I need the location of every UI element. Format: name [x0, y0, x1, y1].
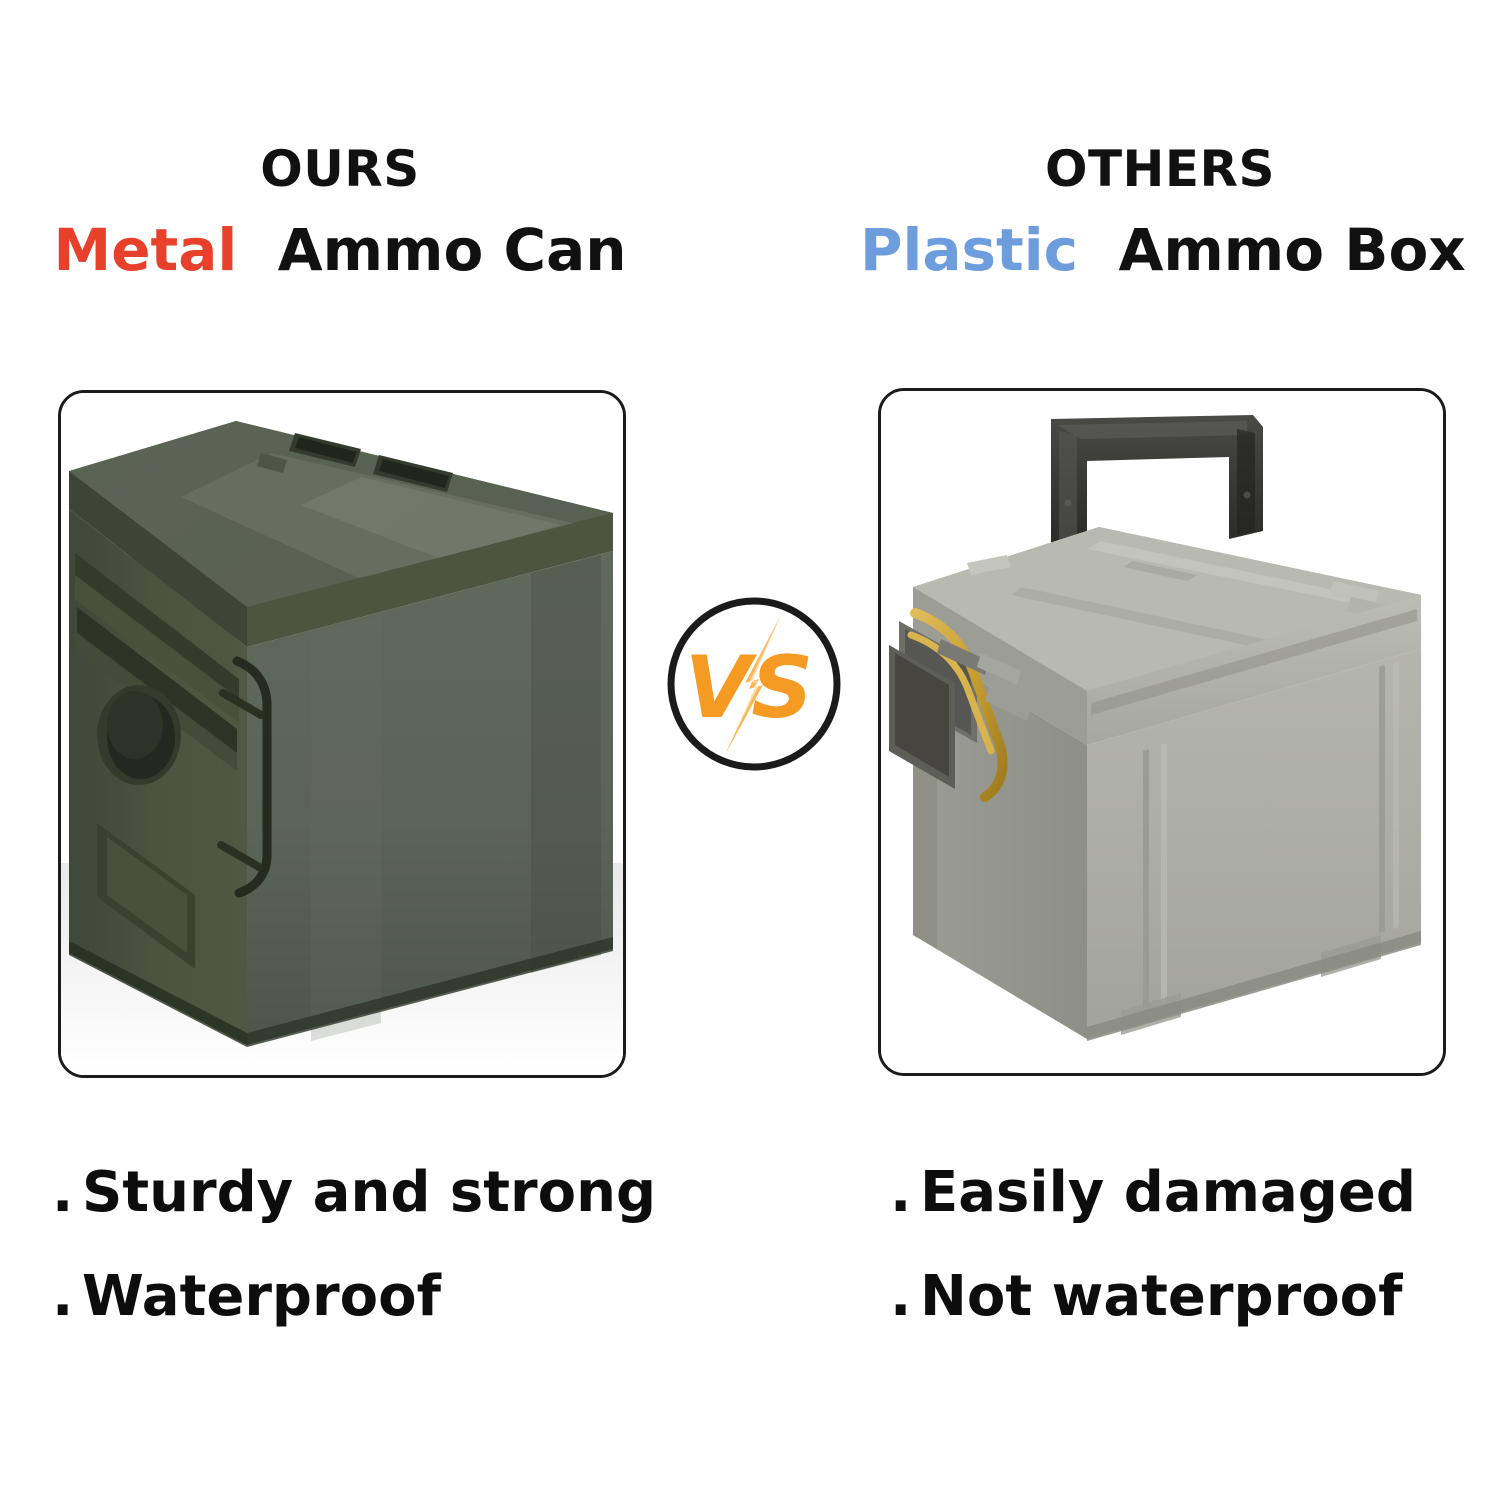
- versus-label: VS: [685, 638, 814, 738]
- feature-label: Easily damaged: [920, 1160, 1416, 1226]
- others-product-name-label: Ammo Box: [1118, 216, 1465, 284]
- plastic-ammo-box-illustration: [881, 391, 1443, 1073]
- ours-product-image-card: [58, 390, 626, 1078]
- list-item: . Waterproof: [52, 1264, 712, 1330]
- bullet-marker: .: [52, 1160, 82, 1226]
- feature-label: Not waterproof: [920, 1264, 1403, 1330]
- bullet-marker: .: [52, 1264, 82, 1330]
- feature-label: Waterproof: [82, 1264, 441, 1330]
- ours-column-header: OURS Metal Ammo Can: [40, 140, 640, 284]
- others-feature-list: . Easily damaged . Not waterproof: [890, 1160, 1490, 1368]
- list-item: . Not waterproof: [890, 1264, 1490, 1330]
- list-item: . Sturdy and strong: [52, 1160, 712, 1226]
- ours-product-name-label: Ammo Can: [278, 216, 627, 284]
- feature-label: Sturdy and strong: [82, 1160, 656, 1226]
- comparison-infographic: OURS Metal Ammo Can OTHERS Plastic Ammo …: [0, 0, 1500, 1500]
- others-column-header: OTHERS Plastic Ammo Box: [860, 140, 1460, 284]
- ours-kicker-label: OURS: [40, 140, 640, 198]
- bullet-marker: .: [890, 1160, 920, 1226]
- metal-ammo-can-illustration: [61, 393, 623, 1075]
- bullet-marker: .: [890, 1264, 920, 1330]
- ours-feature-list: . Sturdy and strong . Waterproof: [52, 1160, 712, 1368]
- others-kicker-label: OTHERS: [860, 140, 1460, 198]
- others-product-image-card: [878, 388, 1446, 1076]
- others-material-label: Plastic: [860, 216, 1078, 284]
- ours-product-title: Metal Ammo Can: [40, 216, 640, 284]
- others-product-title: Plastic Ammo Box: [860, 216, 1460, 284]
- list-item: . Easily damaged: [890, 1160, 1490, 1226]
- versus-badge: VS: [663, 593, 845, 775]
- ours-material-label: Metal: [54, 216, 238, 284]
- can-round-port: [97, 685, 181, 785]
